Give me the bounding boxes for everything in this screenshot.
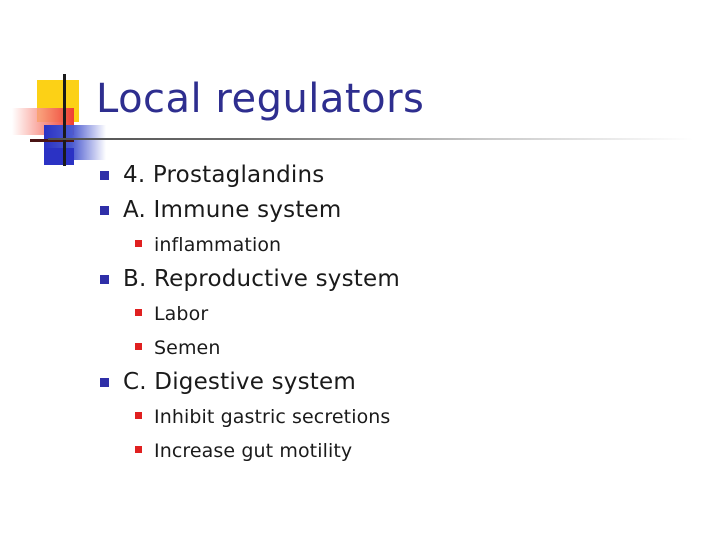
list-item: Labor (0, 297, 720, 331)
list-item-label: B. Reproductive system (123, 262, 400, 297)
square-bullet-icon (135, 240, 142, 247)
vertical-crossbar-line (63, 74, 66, 166)
square-bullet-icon (100, 206, 109, 215)
square-bullet-icon (135, 412, 142, 419)
list-item-label: 4. Prostaglandins (123, 158, 324, 193)
decorative-logo-mark (12, 70, 102, 165)
square-bullet-icon (135, 309, 142, 316)
list-item: Semen (0, 331, 720, 365)
list-item-label: C. Digestive system (123, 365, 356, 400)
square-bullet-icon (135, 343, 142, 350)
slide-canvas: Local regulators 4. Prostaglandins A. Im… (0, 0, 720, 539)
square-bullet-icon (100, 171, 109, 180)
list-item-label: Inhibit gastric secretions (154, 400, 390, 434)
square-bullet-icon (100, 378, 109, 387)
list-item-label: inflammation (154, 228, 281, 262)
list-item-label: A. Immune system (123, 193, 342, 228)
square-bullet-icon (135, 446, 142, 453)
list-item: A. Immune system (0, 193, 720, 228)
list-item: B. Reproductive system (0, 262, 720, 297)
list-item-label: Labor (154, 297, 208, 331)
list-item: 4. Prostaglandins (0, 158, 720, 193)
list-item-label: Semen (154, 331, 221, 365)
bullet-list: 4. Prostaglandins A. Immune system infla… (0, 158, 720, 468)
page-title: Local regulators (96, 76, 424, 122)
title-divider-rule (48, 138, 693, 140)
list-item: C. Digestive system (0, 365, 720, 400)
square-bullet-icon (100, 275, 109, 284)
list-item: Increase gut motility (0, 434, 720, 468)
list-item: inflammation (0, 228, 720, 262)
list-item-label: Increase gut motility (154, 434, 352, 468)
list-item: Inhibit gastric secretions (0, 400, 720, 434)
